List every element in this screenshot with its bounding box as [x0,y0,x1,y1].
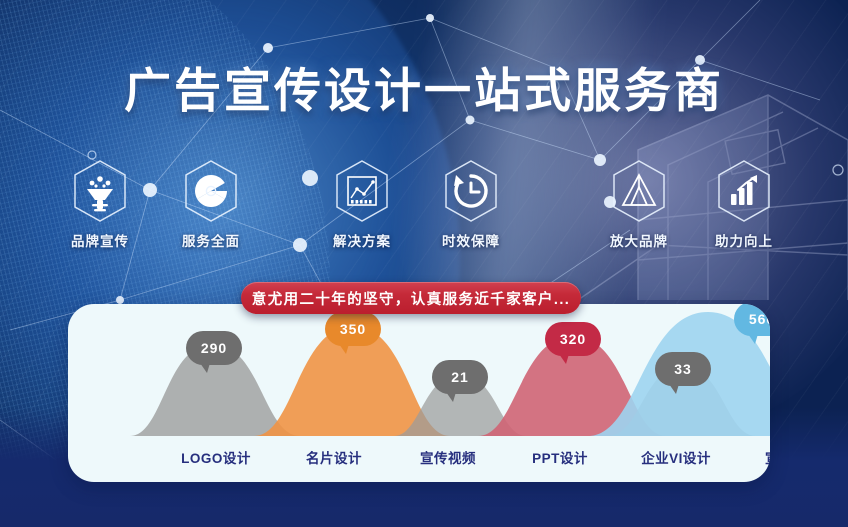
x-axis-label: 宣传视频 [420,447,476,467]
feature-icon-row: 品牌宣传 服务全面 [0,158,848,250]
chart-panel: 290 350 21 320 33 560 LOGO设计 名片设计 宣传视频 P… [68,304,770,482]
x-axis-label: 宣传册设计 [765,447,770,467]
feature-label: 品牌宣传 [54,230,146,250]
feature-label: 解决方案 [316,230,408,250]
bar-chart-up-arrow-icon [714,158,774,224]
chart-x-axis-labels: LOGO设计 名片设计 宣传视频 PPT设计 企业VI设计 宣传册设计 [68,447,770,469]
megaphone-broadcast-icon [70,158,130,224]
feature-item-full-service[interactable]: 服务全面 [165,158,257,250]
feature-label: 时效保障 [425,230,517,250]
chart-value-bubble: 21 [432,360,488,394]
feature-item-brand-promotion[interactable]: 品牌宣传 [54,158,146,250]
feature-label: 助力向上 [698,230,790,250]
feature-label: 放大品牌 [593,230,685,250]
clock-rewind-icon [441,158,501,224]
x-axis-label: LOGO设计 [181,447,251,467]
feature-label: 服务全面 [165,230,257,250]
x-axis-label: PPT设计 [532,447,588,467]
chart-value-bubble: 560 [734,304,770,336]
chart-value-bubble: 320 [545,322,601,356]
triangle-pyramid-icon [609,158,669,224]
feature-item-boost-growth[interactable]: 助力向上 [698,158,790,250]
line-chart-analysis-icon [332,158,392,224]
chart-value-bubble: 350 [325,312,381,346]
page-title: 广告宣传设计一站式服务商 [0,52,848,121]
x-axis-label: 名片设计 [306,447,362,467]
feature-item-solutions[interactable]: 解决方案 [316,158,408,250]
promotional-banner: 广告宣传设计一站式服务商 品牌宣传 [0,0,848,527]
camera-aperture-icon [181,158,241,224]
chart-value-bubble: 290 [186,331,242,365]
x-axis-label: 企业VI设计 [641,447,711,467]
feature-item-amplify-brand[interactable]: 放大品牌 [593,158,685,250]
chart-value-bubble: 33 [655,352,711,386]
feature-item-timeliness[interactable]: 时效保障 [425,158,517,250]
promo-pill-banner[interactable]: 意尤用二十年的坚守，认真服务近千家客户... [241,282,581,314]
promo-pill-text: 意尤用二十年的坚守，认真服务近千家客户... [252,288,570,309]
